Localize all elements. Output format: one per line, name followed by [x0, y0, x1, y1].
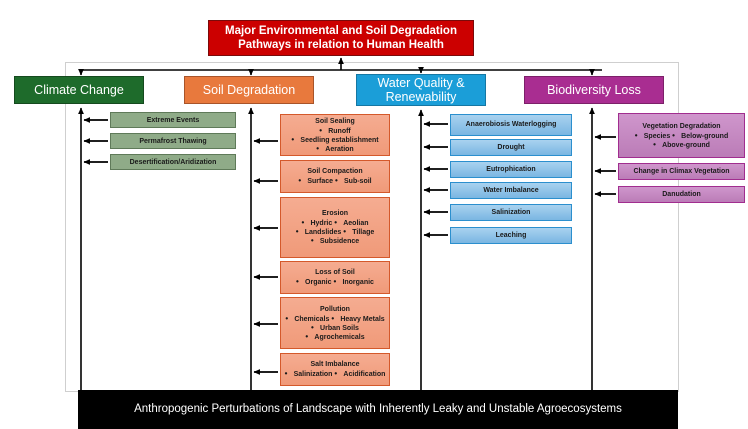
- category-water-quality[interactable]: Water Quality & Renewability: [356, 74, 486, 106]
- diagram-title-text: Major Environmental and Soil Degradation…: [213, 24, 469, 52]
- leaf-soil-4-bullet-2: Inorganic: [333, 278, 374, 287]
- leaf-soil-6-bullet-2: Acidification: [334, 370, 385, 379]
- leaf-water-3[interactable]: Eutrophication: [450, 161, 572, 178]
- category-climate-change-label: Climate Change: [34, 83, 124, 97]
- leaf-soil-6-bullet-1: Salinization: [285, 370, 333, 379]
- leaf-water-2-header: Drought: [497, 143, 524, 152]
- leaf-water-1[interactable]: Anaerobiosis Waterlogging: [450, 114, 572, 136]
- category-soil-degradation[interactable]: Soil Degradation: [184, 76, 314, 104]
- leaf-soil-5-bullet-3: Urban Soils: [311, 324, 359, 333]
- diagram-canvas: Major Environmental and Soil Degradation…: [0, 0, 748, 429]
- leaf-soil-1[interactable]: Soil Sealing Runoff Seedling establishme…: [280, 114, 390, 156]
- leaf-bio-1-bullet-2: Below-ground: [672, 132, 728, 141]
- leaf-water-5[interactable]: Salinization: [450, 204, 572, 221]
- leaf-water-2[interactable]: Drought: [450, 139, 572, 156]
- leaf-soil-1-bullet-3: Aeration: [316, 145, 353, 154]
- leaf-soil-5[interactable]: Pollution Chemicals Heavy Metals Urban S…: [280, 297, 390, 349]
- leaf-water-6-header: Leaching: [496, 231, 527, 240]
- leaf-bio-3[interactable]: Danudation: [618, 186, 745, 203]
- leaf-soil-3-bullet-1: Hydric: [301, 219, 332, 228]
- footer-bar-text: Anthropogenic Perturbations of Landscape…: [134, 402, 622, 417]
- leaf-climate-2[interactable]: Permafrost Thawing: [110, 133, 236, 149]
- leaf-water-4-header: Water Imbalance: [483, 186, 538, 195]
- leaf-climate-3-header: Desertification/Aridization: [130, 158, 217, 167]
- leaf-water-1-header: Anaerobiosis Waterlogging: [466, 120, 557, 130]
- leaf-soil-1-bullet-1: Runoff: [319, 127, 351, 136]
- leaf-water-3-header: Eutrophication: [486, 165, 535, 174]
- leaf-soil-5-bullet-4: Agrochemicals: [305, 333, 364, 342]
- leaf-climate-1[interactable]: Extreme Events: [110, 112, 236, 128]
- leaf-soil-3[interactable]: Erosion Hydric Aeolian Landslides Tillag…: [280, 197, 390, 258]
- leaf-water-4[interactable]: Water Imbalance: [450, 182, 572, 199]
- leaf-soil-2-bullet-1: Surface: [298, 177, 333, 186]
- leaf-climate-3[interactable]: Desertification/Aridization: [110, 154, 236, 170]
- category-water-quality-label: Water Quality & Renewability: [357, 76, 485, 104]
- leaf-bio-2[interactable]: Change in Climax Vegetation: [618, 163, 745, 180]
- leaf-soil-6[interactable]: Salt Imbalance Salinization Acidificatio…: [280, 353, 390, 386]
- leaf-soil-2-bullet-2: Sub-soil: [335, 177, 372, 186]
- leaf-bio-1-bullet-3: Above-ground: [653, 141, 710, 150]
- leaf-soil-3-bullet-4: Tillage: [343, 228, 374, 237]
- leaf-soil-1-header: Soil Sealing: [315, 117, 355, 126]
- leaf-bio-2-header: Change in Climax Vegetation: [633, 167, 729, 176]
- category-climate-change[interactable]: Climate Change: [14, 76, 144, 104]
- leaf-soil-5-bullet-1: Chemicals: [285, 315, 329, 324]
- leaf-soil-1-bullet-2: Seedling establishment: [291, 136, 378, 145]
- leaf-soil-5-header: Pollution: [320, 305, 350, 314]
- leaf-soil-2[interactable]: Soil Compaction Surface Sub-soil: [280, 160, 390, 193]
- leaf-soil-3-bullet-5: Subsidence: [311, 237, 359, 246]
- leaf-soil-4[interactable]: Loss of Soil Organic Inorganic: [280, 261, 390, 294]
- leaf-bio-3-header: Danudation: [662, 190, 701, 199]
- leaf-bio-1-header: Vegetation Degradation: [642, 122, 720, 131]
- leaf-soil-6-header: Salt Imbalance: [310, 360, 359, 369]
- leaf-soil-2-header: Soil Compaction: [307, 167, 362, 176]
- leaf-soil-4-bullet-1: Organic: [296, 278, 331, 287]
- leaf-soil-5-bullet-2: Heavy Metals: [331, 315, 384, 324]
- leaf-soil-3-bullet-3: Landslides: [296, 228, 342, 237]
- leaf-bio-1[interactable]: Vegetation Degradation Species Below-gro…: [618, 113, 745, 158]
- category-biodiversity-loss-label: Biodiversity Loss: [547, 83, 641, 97]
- leaf-water-6[interactable]: Leaching: [450, 227, 572, 244]
- leaf-water-5-header: Salinization: [492, 208, 531, 217]
- leaf-soil-3-header: Erosion: [322, 209, 348, 218]
- footer-bar: Anthropogenic Perturbations of Landscape…: [78, 390, 678, 429]
- leaf-climate-1-header: Extreme Events: [147, 116, 200, 125]
- leaf-climate-2-header: Permafrost Thawing: [139, 137, 206, 146]
- category-soil-degradation-label: Soil Degradation: [203, 83, 295, 97]
- category-biodiversity-loss[interactable]: Biodiversity Loss: [524, 76, 664, 104]
- diagram-title: Major Environmental and Soil Degradation…: [208, 20, 474, 56]
- leaf-soil-4-header: Loss of Soil: [315, 268, 355, 277]
- leaf-soil-3-bullet-2: Aeolian: [334, 219, 368, 228]
